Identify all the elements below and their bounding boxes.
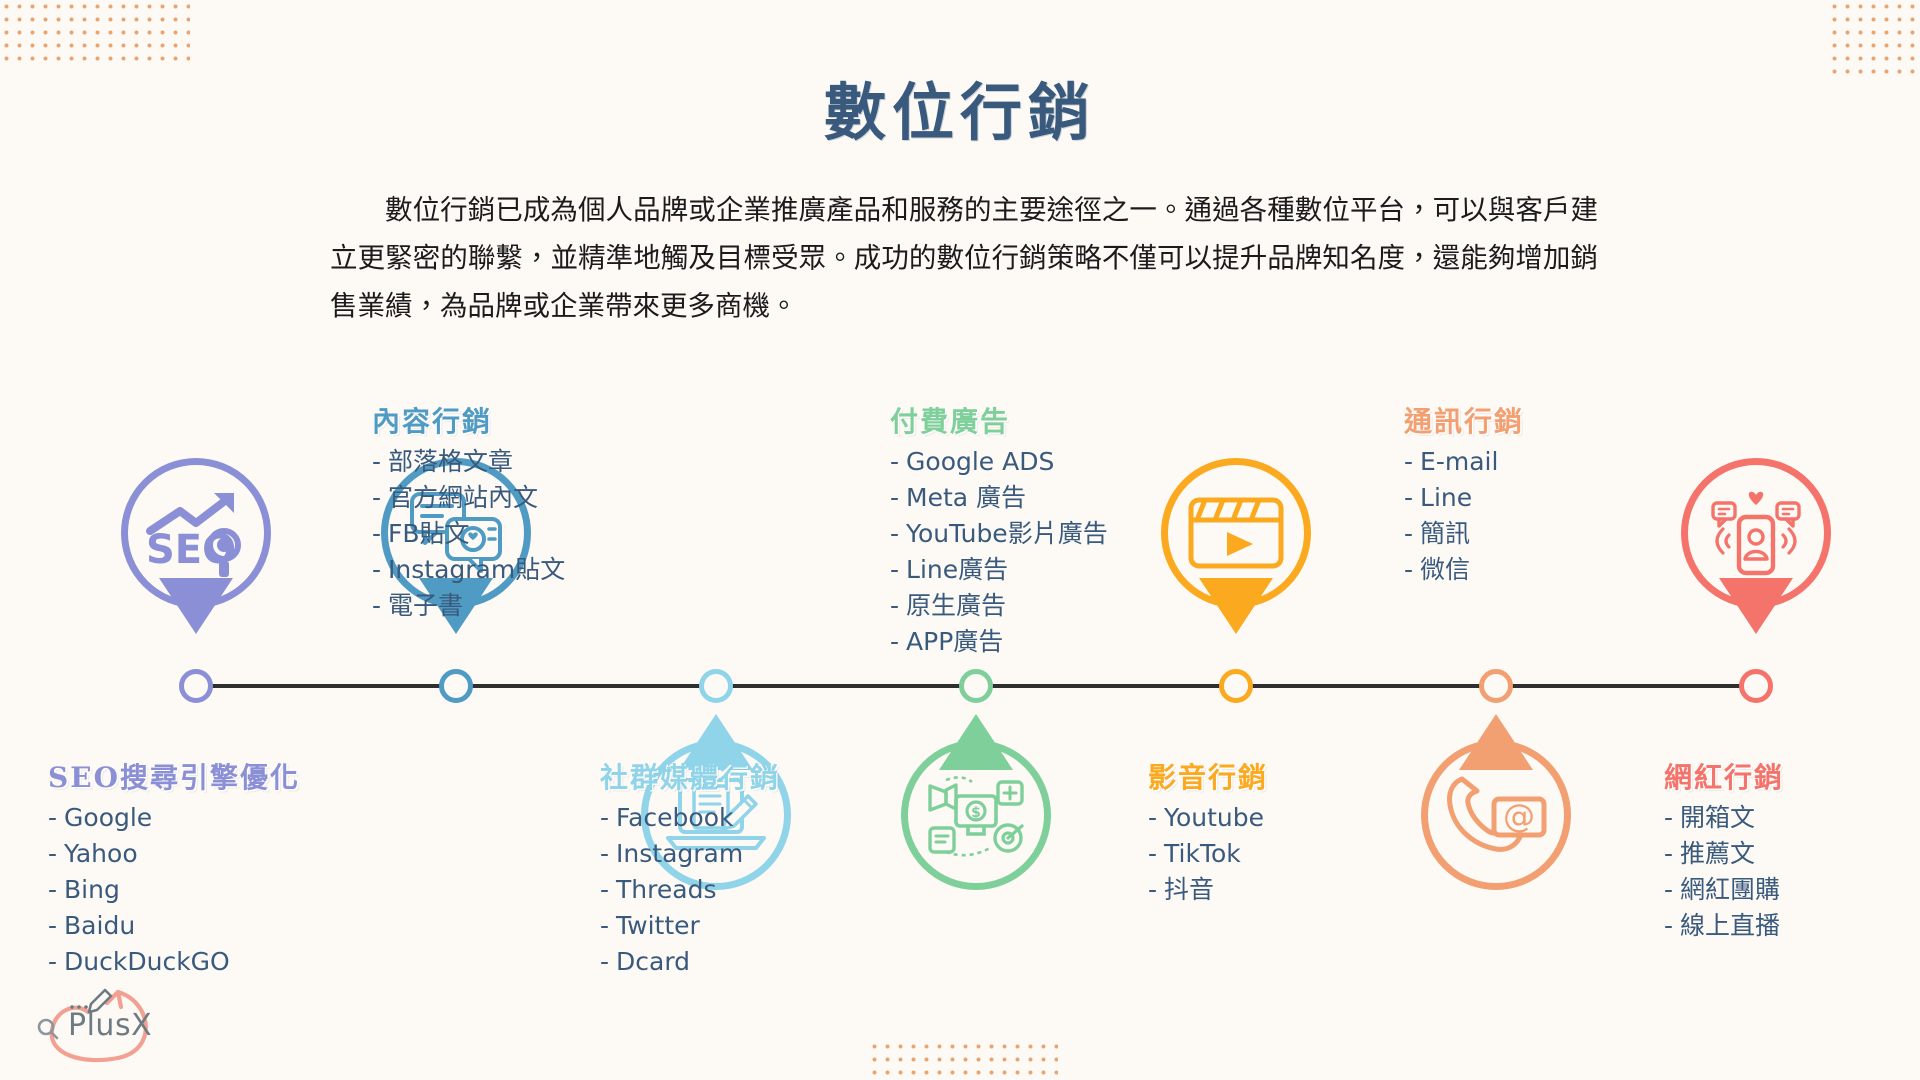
- list-item: -網紅團購: [1664, 872, 1920, 908]
- bullet-dash: -: [48, 947, 57, 976]
- section-heading-social-media-marketing: 社群媒體行銷: [600, 756, 900, 796]
- dot-pattern-bottom: [868, 1040, 1058, 1080]
- bullet-dash: -: [600, 875, 609, 904]
- list-item-label: Threads: [616, 875, 716, 904]
- list-item: -Youtube: [1148, 800, 1448, 836]
- list-item-label: Bing: [64, 875, 120, 904]
- list-item-label: Instagram貼文: [388, 555, 565, 584]
- bullet-dash: -: [600, 947, 609, 976]
- bullet-dash: -: [1664, 839, 1673, 868]
- list-item: -DuckDuckGO: [48, 944, 348, 980]
- section-list-video-marketing: -Youtube-TikTok-抖音: [1148, 800, 1448, 908]
- list-item-label: Line廣告: [906, 555, 1008, 584]
- marker-paid-ads[interactable]: $: [901, 740, 1051, 890]
- list-item-label: 線上直播: [1680, 911, 1780, 940]
- list-item: -Facebook: [600, 800, 900, 836]
- phone-social-icon: [1707, 487, 1805, 579]
- list-item: -E-mail: [1404, 444, 1704, 480]
- list-item: -TikTok: [1148, 836, 1448, 872]
- list-item-label: 原生廣告: [906, 591, 1006, 620]
- bullet-dash: -: [890, 591, 899, 620]
- bullet-dash: -: [1148, 803, 1157, 832]
- list-item: -部落格文章: [372, 444, 672, 480]
- megaphone-screen-icon: $: [924, 772, 1028, 858]
- list-item: -FB貼文: [372, 516, 672, 552]
- bullet-dash: -: [1404, 555, 1413, 584]
- section-heading-messaging-marketing: 通訊行銷: [1404, 400, 1704, 440]
- marker-tail-paid-ads: [939, 714, 1013, 770]
- marker-tail-seo: [159, 578, 233, 634]
- list-item-label: Instagram: [616, 839, 743, 868]
- intro-paragraph: 數位行銷已成為個人品牌或企業推廣產品和服務的主要途徑之一。通過各種數位平台，可以…: [330, 186, 1598, 330]
- list-item: -Instagram: [600, 836, 900, 872]
- bullet-dash: -: [1664, 803, 1673, 832]
- marker-tail-messaging-marketing: [1459, 714, 1533, 770]
- bullet-dash: -: [1664, 911, 1673, 940]
- list-item-label: 開箱文: [1680, 803, 1755, 832]
- bullet-dash: -: [372, 483, 381, 512]
- list-item: -YouTube影片廣告: [890, 516, 1210, 552]
- page-title: 數位行銷: [0, 62, 1920, 152]
- logo-text: PlusX: [68, 1008, 152, 1043]
- list-item: -Bing: [48, 872, 348, 908]
- list-item: -Google: [48, 800, 348, 836]
- seo-magnifier-icon: SEO: [144, 487, 248, 579]
- marker-tail-video-marketing: [1199, 578, 1273, 634]
- section-video-marketing: 影音行銷-Youtube-TikTok-抖音: [1148, 756, 1448, 908]
- plusx-logo: PlusX: [22, 978, 172, 1064]
- list-item: -Line廣告: [890, 552, 1210, 588]
- section-seo: SEO搜尋引擎優化-Google-Yahoo-Bing-Baidu-DuckDu…: [48, 756, 348, 980]
- bullet-dash: -: [48, 803, 57, 832]
- list-item: -Twitter: [600, 908, 900, 944]
- section-list-influencer-marketing: -開箱文-推薦文-網紅團購-線上直播: [1664, 800, 1920, 944]
- list-item-label: Baidu: [64, 911, 135, 940]
- list-item: -Dcard: [600, 944, 900, 980]
- section-list-social-media-marketing: -Facebook-Instagram-Threads-Twitter-Dcar…: [600, 800, 900, 980]
- section-social-media-marketing: 社群媒體行銷-Facebook-Instagram-Threads-Twitte…: [600, 756, 900, 980]
- bullet-dash: -: [1404, 447, 1413, 476]
- section-heading-video-marketing: 影音行銷: [1148, 756, 1448, 796]
- list-item: -APP廣告: [890, 624, 1210, 660]
- list-item: -Threads: [600, 872, 900, 908]
- list-item-label: Youtube: [1164, 803, 1264, 832]
- list-item-label: 官方網站內文: [388, 483, 538, 512]
- list-item-label: 簡訊: [1420, 519, 1470, 548]
- list-item-label: Twitter: [616, 911, 700, 940]
- bullet-dash: -: [372, 447, 381, 476]
- bullet-dash: -: [890, 627, 899, 656]
- section-heading-paid-ads: 付費廣告: [890, 400, 1210, 440]
- list-item-label: APP廣告: [906, 627, 1003, 656]
- list-item-label: 網紅團購: [1680, 875, 1780, 904]
- list-item-label: Google ADS: [906, 447, 1054, 476]
- section-influencer-marketing: 網紅行銷-開箱文-推薦文-網紅團購-線上直播: [1664, 756, 1920, 944]
- list-item-label: Meta 廣告: [906, 483, 1026, 512]
- section-list-seo: -Google-Yahoo-Bing-Baidu-DuckDuckGO: [48, 800, 348, 980]
- list-item-label: Google: [64, 803, 152, 832]
- bullet-dash: -: [1148, 839, 1157, 868]
- section-list-content-marketing: -部落格文章-官方網站內文-FB貼文-Instagram貼文-電子書: [372, 444, 672, 624]
- bullet-dash: -: [372, 591, 381, 620]
- bullet-dash: -: [372, 555, 381, 584]
- list-item: -微信: [1404, 552, 1704, 588]
- bullet-dash: -: [1404, 483, 1413, 512]
- list-item: -開箱文: [1664, 800, 1920, 836]
- list-item: -簡訊: [1404, 516, 1704, 552]
- list-item: -線上直播: [1664, 908, 1920, 944]
- bullet-dash: -: [372, 519, 381, 548]
- bullet-dash: -: [1664, 875, 1673, 904]
- section-paid-ads: 付費廣告-Google ADS-Meta 廣告-YouTube影片廣告-Line…: [890, 400, 1210, 660]
- list-item-label: E-mail: [1420, 447, 1498, 476]
- bullet-dash: -: [890, 519, 899, 548]
- list-item: -官方網站內文: [372, 480, 672, 516]
- list-item-label: FB貼文: [388, 519, 470, 548]
- section-content-marketing: 內容行銷-部落格文章-官方網站內文-FB貼文-Instagram貼文-電子書: [372, 400, 672, 624]
- bullet-dash: -: [1148, 875, 1157, 904]
- timeline-node-influencer-marketing[interactable]: [1739, 669, 1773, 703]
- list-item-label: Yahoo: [64, 839, 138, 868]
- bullet-dash: -: [600, 911, 609, 940]
- bullet-dash: -: [890, 555, 899, 584]
- list-item: -Google ADS: [890, 444, 1210, 480]
- list-item: -抖音: [1148, 872, 1448, 908]
- section-heading-influencer-marketing: 網紅行銷: [1664, 756, 1920, 796]
- section-list-paid-ads: -Google ADS-Meta 廣告-YouTube影片廣告-Line廣告-原…: [890, 444, 1210, 660]
- bullet-dash: -: [48, 839, 57, 868]
- svg-text:@: @: [1503, 797, 1535, 835]
- section-heading-content-marketing: 內容行銷: [372, 400, 672, 440]
- list-item-label: TikTok: [1164, 839, 1241, 868]
- list-item: -電子書: [372, 588, 672, 624]
- bullet-dash: -: [890, 447, 899, 476]
- list-item-label: 抖音: [1164, 875, 1214, 904]
- list-item: -Meta 廣告: [890, 480, 1210, 516]
- list-item: -Line: [1404, 480, 1704, 516]
- timeline-node-paid-ads[interactable]: [959, 669, 993, 703]
- bullet-dash: -: [600, 839, 609, 868]
- marker-seo[interactable]: SEO: [121, 458, 271, 608]
- list-item-label: 微信: [1420, 555, 1470, 584]
- marker-tail-influencer-marketing: [1719, 578, 1793, 634]
- list-item-label: 推薦文: [1680, 839, 1755, 868]
- section-messaging-marketing: 通訊行銷-E-mail-Line-簡訊-微信: [1404, 400, 1704, 588]
- section-heading-seo: SEO搜尋引擎優化: [48, 756, 348, 796]
- list-item-label: YouTube影片廣告: [906, 519, 1108, 548]
- list-item: -原生廣告: [890, 588, 1210, 624]
- list-item-label: Line: [1420, 483, 1472, 512]
- list-item-label: DuckDuckGO: [64, 947, 230, 976]
- list-item-label: Facebook: [616, 803, 733, 832]
- section-list-messaging-marketing: -E-mail-Line-簡訊-微信: [1404, 444, 1704, 588]
- timeline-node-video-marketing[interactable]: [1219, 669, 1253, 703]
- list-item-label: 電子書: [388, 591, 463, 620]
- list-item: -推薦文: [1664, 836, 1920, 872]
- bullet-dash: -: [1404, 519, 1413, 548]
- dot-pattern-top-left: [0, 0, 190, 62]
- list-item-label: Dcard: [616, 947, 690, 976]
- list-item: -Instagram貼文: [372, 552, 672, 588]
- bullet-dash: -: [48, 875, 57, 904]
- list-item: -Baidu: [48, 908, 348, 944]
- bullet-dash: -: [48, 911, 57, 940]
- list-item: -Yahoo: [48, 836, 348, 872]
- timeline-node-social-media-marketing[interactable]: [699, 669, 733, 703]
- infographic-canvas: 數位行銷 數位行銷已成為個人品牌或企業推廣產品和服務的主要途徑之一。通過各種數位…: [0, 0, 1920, 1080]
- list-item-label: 部落格文章: [388, 447, 513, 476]
- timeline-node-seo[interactable]: [179, 669, 213, 703]
- bullet-dash: -: [600, 803, 609, 832]
- bullet-dash: -: [890, 483, 899, 512]
- timeline-node-messaging-marketing[interactable]: [1479, 669, 1513, 703]
- svg-text:$: $: [971, 805, 981, 821]
- phone-email-icon: @: [1444, 773, 1548, 857]
- timeline-node-content-marketing[interactable]: [439, 669, 473, 703]
